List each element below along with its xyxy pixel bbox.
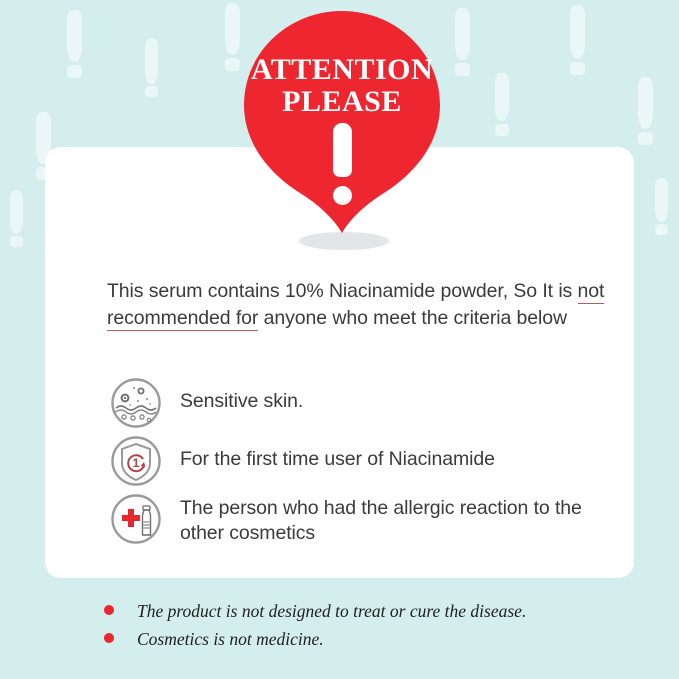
background-exclamation-icon <box>570 5 585 75</box>
list-item: 1 For the first time user of Niacinamide <box>110 435 620 487</box>
intro-part2: So It is <box>513 280 577 302</box>
background-exclamation-icon <box>145 38 158 97</box>
list-item: The person who had the allergic reaction… <box>110 493 620 546</box>
background-exclamation-icon <box>638 77 653 145</box>
shield-first-time-icon: 1 <box>110 435 162 487</box>
intro-paragraph: This serum contains 10% Niacinamide powd… <box>107 278 607 332</box>
background-exclamation-icon <box>67 10 82 78</box>
background-exclamation-icon <box>225 3 240 71</box>
list-item-label: Sensitive skin. <box>162 377 620 414</box>
sensitive-skin-icon <box>110 377 162 429</box>
bullet-dot-icon <box>104 605 114 615</box>
attention-pin: ATTENTION PLEASE <box>244 11 440 233</box>
note-row: The product is not designed to treat or … <box>104 600 644 622</box>
note-text: The product is not designed to treat or … <box>137 600 526 622</box>
background-exclamation-icon <box>495 73 509 136</box>
background-exclamation-icon <box>455 8 470 76</box>
svg-text:1: 1 <box>133 456 140 470</box>
footer-notes: The product is not designed to treat or … <box>104 600 644 656</box>
list-item-label: For the first time user of Niacinamide <box>162 435 620 472</box>
bullet-dot-icon <box>104 633 114 643</box>
list-item-label: The person who had the allergic reaction… <box>162 493 620 546</box>
intro-part3: anyone who meet the criteria below <box>258 307 567 329</box>
note-text: Cosmetics is not medicine. <box>137 628 324 650</box>
poster-canvas: ATTENTION PLEASE This serum contains 10%… <box>0 0 679 679</box>
background-exclamation-icon <box>10 190 23 247</box>
allergic-reaction-cosmetics-icon <box>110 493 162 545</box>
intro-part1: This serum contains 10% Niacinamide powd… <box>107 280 508 302</box>
background-exclamation-icon <box>655 178 668 235</box>
note-row: Cosmetics is not medicine. <box>104 628 644 650</box>
list-item: Sensitive skin. <box>110 377 620 429</box>
criteria-list: Sensitive skin. 1 For the first time use… <box>110 377 620 552</box>
pin-shadow-ellipse <box>299 232 389 250</box>
pin-shape-icon <box>244 11 440 233</box>
